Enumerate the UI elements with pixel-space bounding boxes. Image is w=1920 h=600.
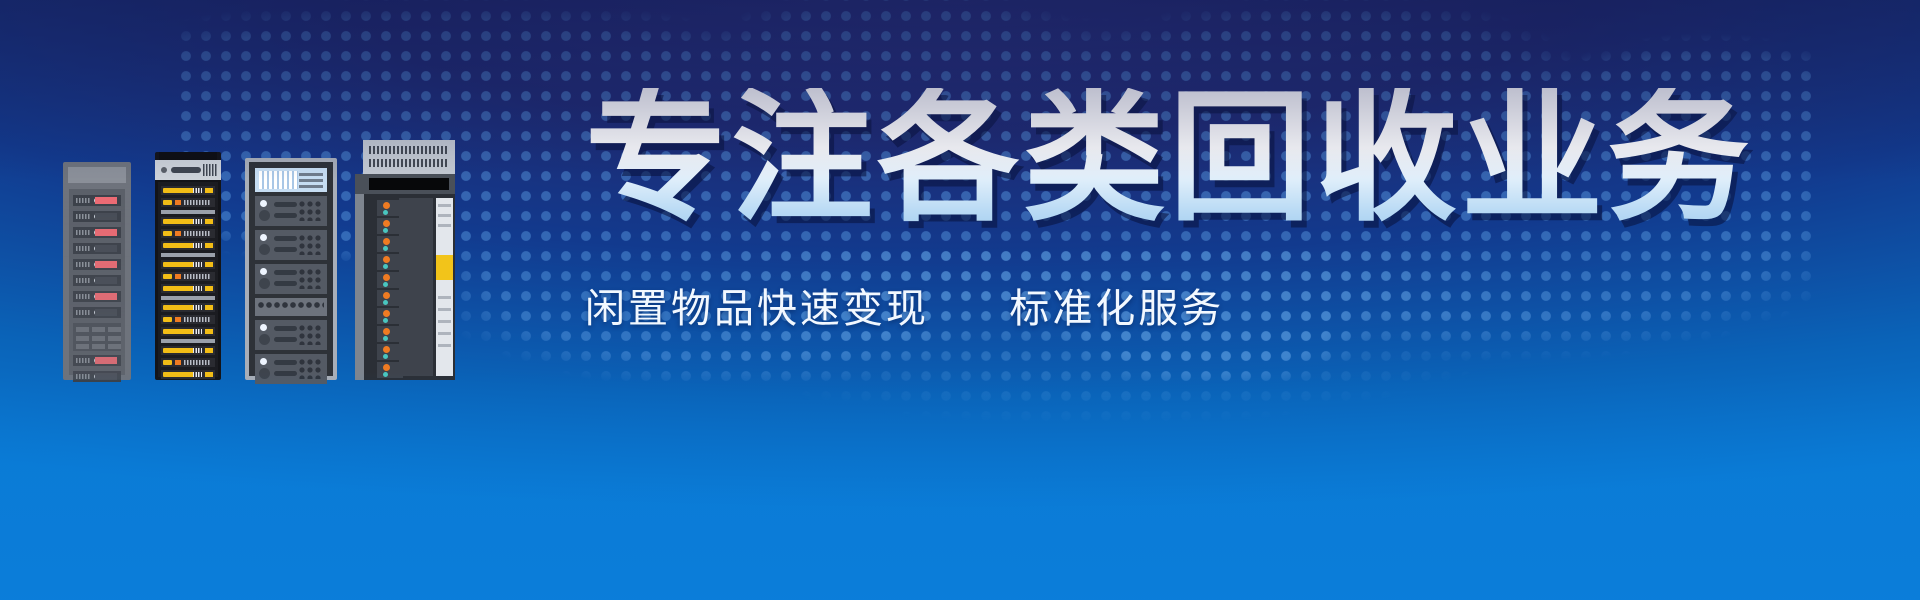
rack-gold-unit [161,327,215,336]
rack-gold-unit [161,358,215,367]
rack-led-column [399,198,433,376]
rack-led-row [377,254,403,270]
rack-led-row [377,290,403,306]
rack-gold-unit [161,370,215,379]
rack-patch-panel [255,298,327,316]
rack-led-row [377,344,403,360]
rack-led-row [377,236,403,252]
rack-server-unit [255,264,327,294]
rack-led-row [377,272,403,288]
rack-led-row [377,362,403,378]
recycling-service-banner: 专注各类回收业务 闲置物品快速变现 标准化服务 [0,0,1920,600]
rack-led-row [377,218,403,234]
rack-reflection [63,162,131,380]
server-rack-tower-led [355,140,455,380]
subtitle-item-right: 标准化服务 [1009,287,1224,331]
rack-divider [161,296,215,300]
subtitle-item-left: 闲置物品快速变现 [585,287,929,331]
banner-headline: 专注各类回收业务 [585,88,1845,230]
rack-gold-unit [161,217,215,226]
rack-gold-unit [161,198,215,207]
rack-gold-unit [161,272,215,281]
rack-server-unit [255,196,327,226]
rack-gold-unit [161,260,215,269]
rack-gold-unit [161,315,215,324]
banner-subtitle: 闲置物品快速变现 标准化服务 [585,276,1845,334]
rack-gold-unit [161,186,215,195]
server-rack-grey-units [245,158,337,380]
rack-display-panel [255,168,327,192]
rack-divider [161,210,215,214]
rack-control-panel [155,160,221,180]
rack-gold-unit [161,241,215,250]
banner-copy: 专注各类回收业务 闲置物品快速变现 标准化服务 [585,88,1845,334]
rack-neck [355,174,455,194]
rack-server-unit [255,354,327,384]
server-rack-grey-red [63,162,131,380]
rack-top-edge [159,152,217,160]
rack-gold-unit [161,229,215,238]
server-racks-illustration [55,140,495,380]
rack-vent-top [363,140,455,174]
rack-led-row [377,308,403,324]
rack-gold-unit [161,284,215,293]
rack-led-row [377,200,403,216]
server-rack-black-gold [155,152,221,380]
rack-side-vent [436,198,453,376]
rack-server-unit [255,230,327,260]
rack-gold-unit [161,303,215,312]
rack-led-row [377,326,403,342]
rack-tower-body [355,194,455,380]
rack-server-unit [255,320,327,350]
rack-gold-unit [161,346,215,355]
rack-divider [161,253,215,257]
rack-divider [161,339,215,343]
rack-body [158,182,218,377]
